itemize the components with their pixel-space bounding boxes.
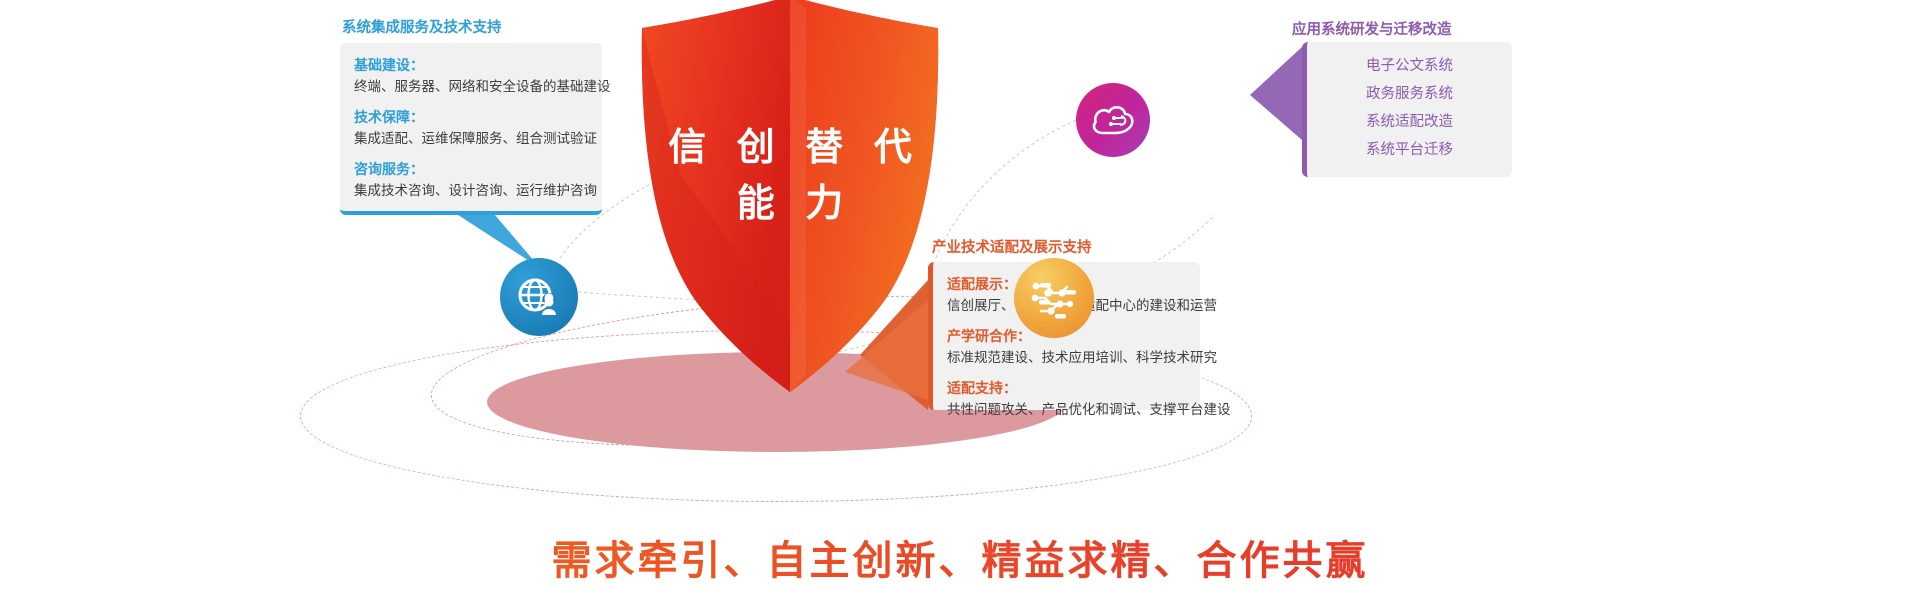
integration-row-0-body: 终端、服务器、网络和安全设备的基础建设 [354,77,602,97]
shield-icon [620,0,960,414]
panel-integration[interactable]: 基础建设： 终端、服务器、网络和安全设备的基础建设 技术保障： 集成适配、运维保… [340,43,602,215]
panel-appdev[interactable]: 电子公文系统 政务服务系统 系统适配改造 系统平台迁移 [1302,42,1512,177]
integration-row-1-head: 技术保障： [354,107,602,127]
slogan-text: 需求牵引、自主创新、精益求精、合作共赢 [0,528,1920,586]
integration-row-2-body: 集成技术咨询、设计咨询、运行维护咨询 [354,181,602,201]
infographic-canvas: 信 创 替 代 能 力 系统集成服务及技术支持 基础建设： 终端、服务器、网络和… [0,0,1920,605]
cloud-icon[interactable] [1076,83,1150,157]
industry-row-1-body: 标准规范建设、技术应用培训、科学技术研究 [947,348,1200,368]
appdev-item-3[interactable]: 系统平台迁移 [1307,136,1512,164]
panel-title-industry: 产业技术适配及展示支持 [932,236,1092,257]
integration-row-2-head: 咨询服务： [354,159,602,179]
chip-network-icon[interactable] [1014,258,1094,338]
integration-row-0-head: 基础建设： [354,55,602,75]
appdev-item-1[interactable]: 政务服务系统 [1307,80,1512,108]
panel-title-appdev: 应用系统研发与迁移改造 [1292,18,1452,39]
appdev-item-2[interactable]: 系统适配改造 [1307,108,1512,136]
integration-row-1-body: 集成适配、运维保障服务、组合测试验证 [354,129,602,149]
panel-title-integration: 系统集成服务及技术支持 [342,16,502,37]
globe-user-icon[interactable] [500,258,578,336]
appdev-item-0[interactable]: 电子公文系统 [1307,52,1512,80]
industry-row-2-head: 适配支持： [947,378,1200,398]
pointer-appdev [1250,47,1302,140]
industry-row-2-body: 共性问题攻关、产品优化和调试、支撑平台建设 [947,400,1200,420]
